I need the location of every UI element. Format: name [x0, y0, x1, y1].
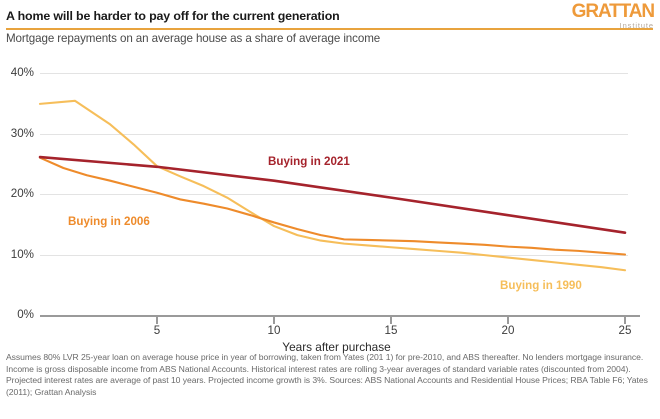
logo-wordmark: GRATTAN — [572, 2, 654, 22]
footnote: Assumes 80% LVR 25-year loan on average … — [6, 352, 654, 398]
series-label-1990: Buying in 1990 — [500, 279, 582, 292]
logo-subtext: Institute — [572, 21, 654, 30]
x-axis-tick-label: 15 — [385, 324, 398, 337]
x-axis-tick — [507, 317, 509, 324]
chart-header: A home will be harder to pay off for the… — [0, 0, 660, 52]
grattan-logo: GRATTAN Institute — [572, 2, 654, 30]
series-label-2006: Buying in 2006 — [68, 215, 150, 228]
chart-page: A home will be harder to pay off for the… — [0, 0, 660, 419]
x-axis-tick — [156, 317, 158, 324]
page-title: A home will be harder to pay off for the… — [6, 9, 340, 23]
x-axis-tick — [273, 317, 275, 324]
chart-subtitle: Mortgage repayments on an average house … — [6, 32, 380, 45]
x-axis-tick-label: 20 — [502, 324, 515, 337]
series-lines — [0, 52, 660, 348]
plot-area: 0%10%20%30%40% 510152025Years after purc… — [0, 52, 660, 348]
x-axis-tick-label: 10 — [268, 324, 281, 337]
x-axis-tick — [390, 317, 392, 324]
x-axis-tick-label: 5 — [154, 324, 160, 337]
header-divider — [6, 28, 653, 30]
series-label-2021: Buying in 2021 — [268, 155, 350, 168]
x-axis-tick — [624, 317, 626, 324]
line-series — [40, 158, 625, 255]
x-axis-tick-label: 25 — [619, 324, 632, 337]
x-axis-line — [40, 315, 640, 317]
